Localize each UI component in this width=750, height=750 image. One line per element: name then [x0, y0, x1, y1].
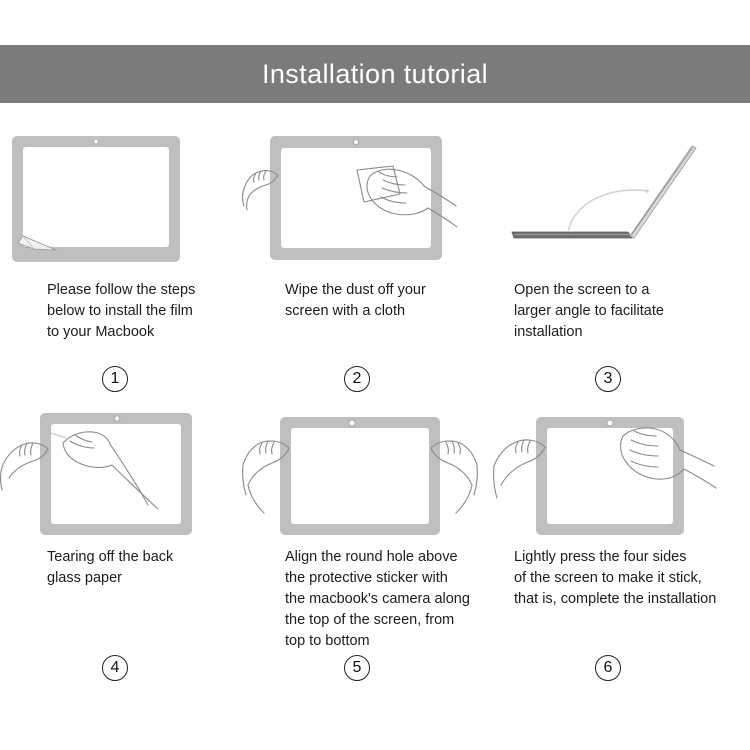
page-title: Installation tutorial	[262, 61, 488, 88]
step-number-2: 2	[344, 366, 370, 392]
step-number-4: 4	[102, 655, 128, 681]
header-banner: Installation tutorial	[0, 45, 750, 103]
step-card-4: Tearing off the back glass paper 4	[0, 405, 242, 705]
step-illustration-1	[0, 128, 242, 268]
step-card-6: Lightly press the four sides of the scre…	[492, 405, 750, 705]
step-caption-3: Open the screen to a larger angle to fac…	[492, 280, 750, 343]
step-number-3: 3	[595, 366, 621, 392]
step-number-6: 6	[595, 655, 621, 681]
step-illustration-5	[242, 405, 492, 545]
step-card-5: Align the round hole above the protectiv…	[242, 405, 492, 705]
step-card-2: Wipe the dust off your screen with a clo…	[242, 128, 492, 405]
step-illustration-6	[492, 405, 750, 545]
step-illustration-2	[242, 128, 492, 268]
step-number-1: 1	[102, 366, 128, 392]
step-illustration-4	[0, 405, 242, 545]
step-number-5: 5	[344, 655, 370, 681]
tutorial-page: Installation tutorial Please follo	[0, 0, 750, 750]
step-caption-6: Lightly press the four sides of the scre…	[492, 547, 750, 610]
step-card-3: Open the screen to a larger angle to fac…	[492, 128, 750, 405]
steps-grid: Please follow the steps below to install…	[0, 128, 750, 705]
step-illustration-3	[492, 128, 750, 268]
step-card-1: Please follow the steps below to install…	[0, 128, 242, 405]
